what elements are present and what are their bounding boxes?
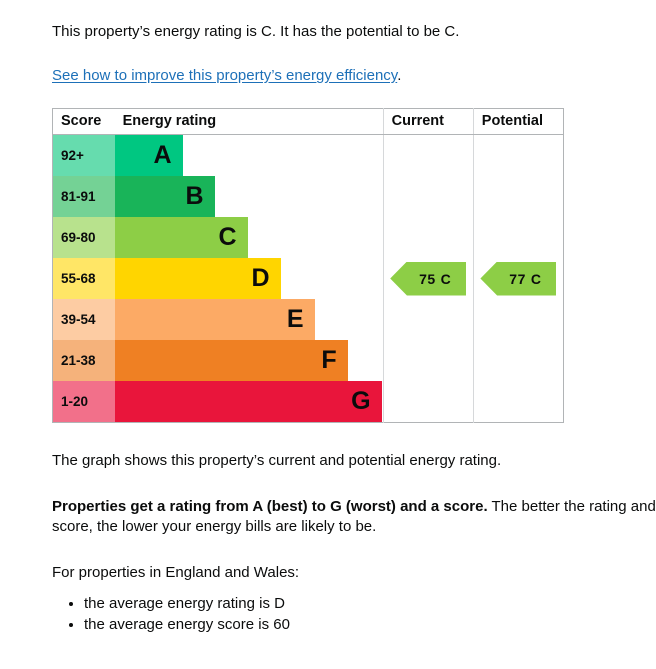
- current-rating-arrow: 75C: [390, 262, 466, 296]
- rating-bar-b: B: [115, 176, 215, 217]
- rating-bar-cell: B: [115, 176, 384, 217]
- rating-explanation: Properties get a rating from A (best) to…: [52, 471, 656, 537]
- epc-band-rows: 92+ A 75C 77C 81-91 B: [53, 135, 564, 423]
- rating-bar-cell: G: [115, 381, 384, 423]
- rating-bar-cell: C: [115, 217, 384, 258]
- score-range: 55-68: [53, 258, 115, 299]
- link-trailing-period: .: [397, 67, 401, 84]
- energy-rating-chart: Score Energy rating Current Potential 92…: [52, 108, 564, 423]
- region-intro: For properties in England and Wales:: [52, 537, 656, 583]
- potential-letter: C: [531, 271, 542, 287]
- score-range: 92+: [53, 135, 115, 177]
- epc-rating-page: This property’s energy rating is C. It h…: [0, 0, 656, 669]
- rating-bar-cell: A: [115, 135, 384, 177]
- header-rating: Energy rating: [115, 109, 384, 135]
- epc-table: Score Energy rating Current Potential 92…: [52, 108, 564, 423]
- improve-link-line: See how to improve this property’s energ…: [52, 42, 656, 86]
- score-range: 1-20: [53, 381, 115, 423]
- rating-bar-cell: E: [115, 299, 384, 340]
- explanatory-text: The graph shows this property’s current …: [52, 423, 656, 635]
- rating-bar-g: G: [115, 381, 382, 422]
- current-marker-cell: 75C: [383, 135, 473, 423]
- rating-bar-c: C: [115, 217, 248, 258]
- current-letter: C: [441, 271, 452, 287]
- potential-rating-arrow: 77C: [480, 262, 556, 296]
- potential-marker-cell: 77C: [473, 135, 563, 423]
- average-list: the average energy rating is D the avera…: [52, 593, 656, 635]
- summary-text: This property’s energy rating is C. It h…: [52, 0, 656, 42]
- potential-score: 77: [509, 271, 526, 287]
- rating-bar-a: A: [115, 135, 183, 176]
- table-row: 92+ A 75C 77C: [53, 135, 564, 177]
- rating-bar-f: F: [115, 340, 348, 381]
- graph-caption: The graph shows this property’s current …: [52, 423, 656, 471]
- header-potential: Potential: [473, 109, 563, 135]
- rating-bar-cell: D: [115, 258, 384, 299]
- list-item: the average energy score is 60: [84, 614, 656, 635]
- rating-bar-d: D: [115, 258, 281, 299]
- rating-bar-e: E: [115, 299, 315, 340]
- score-range: 81-91: [53, 176, 115, 217]
- rating-explanation-bold: Properties get a rating from A (best) to…: [52, 498, 488, 515]
- score-range: 69-80: [53, 217, 115, 258]
- header-current: Current: [383, 109, 473, 135]
- header-score: Score: [53, 109, 115, 135]
- improve-efficiency-link[interactable]: See how to improve this property’s energ…: [52, 67, 397, 84]
- table-header-row: Score Energy rating Current Potential: [53, 109, 564, 135]
- score-range: 21-38: [53, 340, 115, 381]
- score-range: 39-54: [53, 299, 115, 340]
- rating-bar-cell: F: [115, 340, 384, 381]
- list-item: the average energy rating is D: [84, 593, 656, 614]
- current-score: 75: [419, 271, 436, 287]
